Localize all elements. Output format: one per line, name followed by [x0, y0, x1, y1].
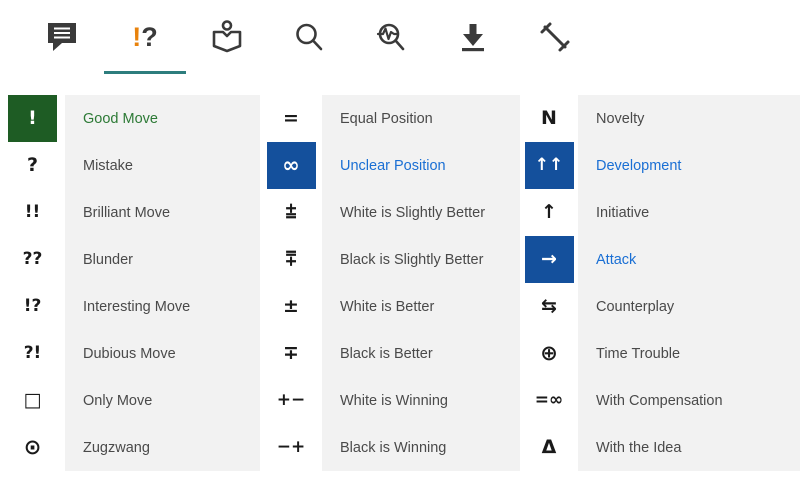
- shuffle-tab[interactable]: [514, 0, 596, 74]
- initiative-symbol: ↑: [525, 189, 574, 236]
- annotation-symbol-cell[interactable]: ⩱: [260, 236, 322, 283]
- annotation-label: Development: [578, 142, 800, 189]
- annotation-label: Novelty: [578, 95, 800, 142]
- annotation-row[interactable]: ±White is Better: [260, 283, 520, 330]
- annotation-symbol-cell[interactable]: =∞: [520, 377, 578, 424]
- crossed-arrows-icon: [539, 21, 571, 53]
- annotation-label: Black is Slightly Better: [322, 236, 520, 283]
- toolbar: !?: [0, 0, 800, 95]
- attack-symbol: →: [525, 236, 574, 283]
- annotation-label: Initiative: [578, 189, 800, 236]
- column-items: NNovelty↑↑Development↑Initiative→Attack⇆…: [520, 95, 800, 471]
- annotation-label: With Compensation: [578, 377, 800, 424]
- annotation-label: Only Move: [65, 377, 260, 424]
- annotation-symbol-cell[interactable]: □: [0, 377, 65, 424]
- annotation-label: Mistake: [65, 142, 260, 189]
- only-move-symbol: □: [8, 377, 57, 424]
- annotation-label: Zugzwang: [65, 424, 260, 471]
- annotation-symbol-cell[interactable]: +−: [260, 377, 322, 424]
- annotation-row[interactable]: ?Mistake: [0, 142, 260, 189]
- annotation-symbol-cell[interactable]: ↑↑: [520, 142, 578, 189]
- white-slightly-better-symbol: ⩲: [267, 189, 316, 236]
- annotation-row[interactable]: ⊕Time Trouble: [520, 330, 800, 377]
- annotation-row[interactable]: +−White is Winning: [260, 377, 520, 424]
- novelty-symbol: N: [525, 95, 574, 142]
- open-book-icon: [211, 20, 243, 54]
- annotation-grid: !Good Move?Mistake!!Brilliant Move??Blun…: [0, 95, 800, 487]
- analysis-tab[interactable]: [350, 0, 432, 74]
- annotation-label: Black is Winning: [322, 424, 520, 471]
- column-position-evaluations: =Equal Position∞Unclear Position⩲White i…: [260, 95, 520, 487]
- annotation-label: White is Slightly Better: [322, 189, 520, 236]
- column-items: !Good Move?Mistake!!Brilliant Move??Blun…: [0, 95, 260, 471]
- annotation-label: Brilliant Move: [65, 189, 260, 236]
- zugzwang-symbol: ⊙: [8, 424, 57, 471]
- annotation-label: Black is Better: [322, 330, 520, 377]
- unclear-position-symbol: ∞: [267, 142, 316, 189]
- annotation-row[interactable]: ∓Black is Better: [260, 330, 520, 377]
- annotation-row[interactable]: NNovelty: [520, 95, 800, 142]
- interesting-move-symbol: !?: [8, 283, 57, 330]
- search-tab[interactable]: [268, 0, 350, 74]
- white-better-symbol: ±: [267, 283, 316, 330]
- annotation-row[interactable]: !?Interesting Move: [0, 283, 260, 330]
- black-better-symbol: ∓: [267, 330, 316, 377]
- annotation-row[interactable]: ??Blunder: [0, 236, 260, 283]
- annotation-symbol-cell[interactable]: N: [520, 95, 578, 142]
- exclamation-question-icon: !?: [132, 24, 158, 51]
- with-the-idea-symbol: Δ: [525, 424, 574, 471]
- opening-book-tab[interactable]: [186, 0, 268, 74]
- annotation-label: Good Move: [65, 95, 260, 142]
- annotation-row[interactable]: ∞Unclear Position: [260, 142, 520, 189]
- black-winning-symbol: −+: [267, 424, 316, 471]
- annotation-symbol-cell[interactable]: ?!: [0, 330, 65, 377]
- annotation-label: Interesting Move: [65, 283, 260, 330]
- counterplay-symbol: ⇆: [525, 283, 574, 330]
- with-compensation-symbol: =∞: [525, 377, 574, 424]
- column-items: =Equal Position∞Unclear Position⩲White i…: [260, 95, 520, 471]
- annotation-symbol-cell[interactable]: ∓: [260, 330, 322, 377]
- white-winning-symbol: +−: [267, 377, 316, 424]
- annotation-label: Dubious Move: [65, 330, 260, 377]
- annotation-row[interactable]: ↑↑Development: [520, 142, 800, 189]
- annotation-symbol-cell[interactable]: !!: [0, 189, 65, 236]
- annotation-label: Counterplay: [578, 283, 800, 330]
- annotation-symbol-cell[interactable]: !?: [0, 283, 65, 330]
- annotation-row[interactable]: □Only Move: [0, 377, 260, 424]
- annotation-symbol-cell[interactable]: ↑: [520, 189, 578, 236]
- annotation-row[interactable]: =Equal Position: [260, 95, 520, 142]
- annotation-symbol-cell[interactable]: −+: [260, 424, 322, 471]
- tab-active-underline: [104, 71, 186, 74]
- annotation-label: Attack: [578, 236, 800, 283]
- annotation-symbol-cell[interactable]: ⇆: [520, 283, 578, 330]
- annotation-row[interactable]: ?!Dubious Move: [0, 330, 260, 377]
- annotation-symbol-cell[interactable]: ±: [260, 283, 322, 330]
- mistake-symbol: ?: [8, 142, 57, 189]
- comment-icon: [46, 21, 80, 53]
- annotation-row[interactable]: !Good Move: [0, 95, 260, 142]
- comment-tab[interactable]: [22, 0, 104, 74]
- annotation-symbol-cell[interactable]: ??: [0, 236, 65, 283]
- annotation-symbol-cell[interactable]: ⩲: [260, 189, 322, 236]
- annotation-label: Unclear Position: [322, 142, 520, 189]
- time-trouble-symbol: ⊕: [525, 330, 574, 377]
- annotation-row[interactable]: −+Black is Winning: [260, 424, 520, 471]
- annotation-row[interactable]: ⩱Black is Slightly Better: [260, 236, 520, 283]
- annotation-row[interactable]: →Attack: [520, 236, 800, 283]
- annotation-row[interactable]: =∞With Compensation: [520, 377, 800, 424]
- good-move-symbol: !: [8, 95, 57, 142]
- annotation-label: White is Winning: [322, 377, 520, 424]
- annotation-row[interactable]: ΔWith the Idea: [520, 424, 800, 471]
- equal-position-symbol: =: [267, 95, 316, 142]
- annotation-row[interactable]: ⇆Counterplay: [520, 283, 800, 330]
- annotation-tab[interactable]: !?: [104, 0, 186, 74]
- annotation-label: Equal Position: [322, 95, 520, 142]
- annotation-symbol-cell[interactable]: →: [520, 236, 578, 283]
- annotation-label: White is Better: [322, 283, 520, 330]
- black-slightly-better-symbol: ⩱: [267, 236, 316, 283]
- annotation-row[interactable]: !!Brilliant Move: [0, 189, 260, 236]
- annotation-label: Time Trouble: [578, 330, 800, 377]
- annotation-row[interactable]: ↑Initiative: [520, 189, 800, 236]
- column-positional-themes: NNovelty↑↑Development↑Initiative→Attack⇆…: [520, 95, 800, 487]
- annotation-row[interactable]: ⩲White is Slightly Better: [260, 189, 520, 236]
- annotation-label: Blunder: [65, 236, 260, 283]
- analysis-search-icon: [374, 21, 408, 53]
- annotation-symbol-cell[interactable]: !: [0, 95, 65, 142]
- annotation-symbol-cell[interactable]: ⊕: [520, 330, 578, 377]
- column-move-annotations: !Good Move?Mistake!!Brilliant Move??Blun…: [0, 95, 260, 487]
- search-icon: [293, 21, 325, 53]
- annotation-symbol-cell[interactable]: Δ: [520, 424, 578, 471]
- annotation-symbol-cell[interactable]: ⊙: [0, 424, 65, 471]
- dubious-move-symbol: ?!: [8, 330, 57, 377]
- brilliant-move-symbol: !!: [8, 189, 57, 236]
- download-icon: [458, 21, 488, 53]
- development-symbol: ↑↑: [525, 142, 574, 189]
- annotation-row[interactable]: ⊙Zugzwang: [0, 424, 260, 471]
- blunder-symbol: ??: [8, 236, 57, 283]
- annotation-symbol-cell[interactable]: ?: [0, 142, 65, 189]
- annotation-symbol-cell[interactable]: ∞: [260, 142, 322, 189]
- download-tab[interactable]: [432, 0, 514, 74]
- annotation-label: With the Idea: [578, 424, 800, 471]
- annotation-symbol-cell[interactable]: =: [260, 95, 322, 142]
